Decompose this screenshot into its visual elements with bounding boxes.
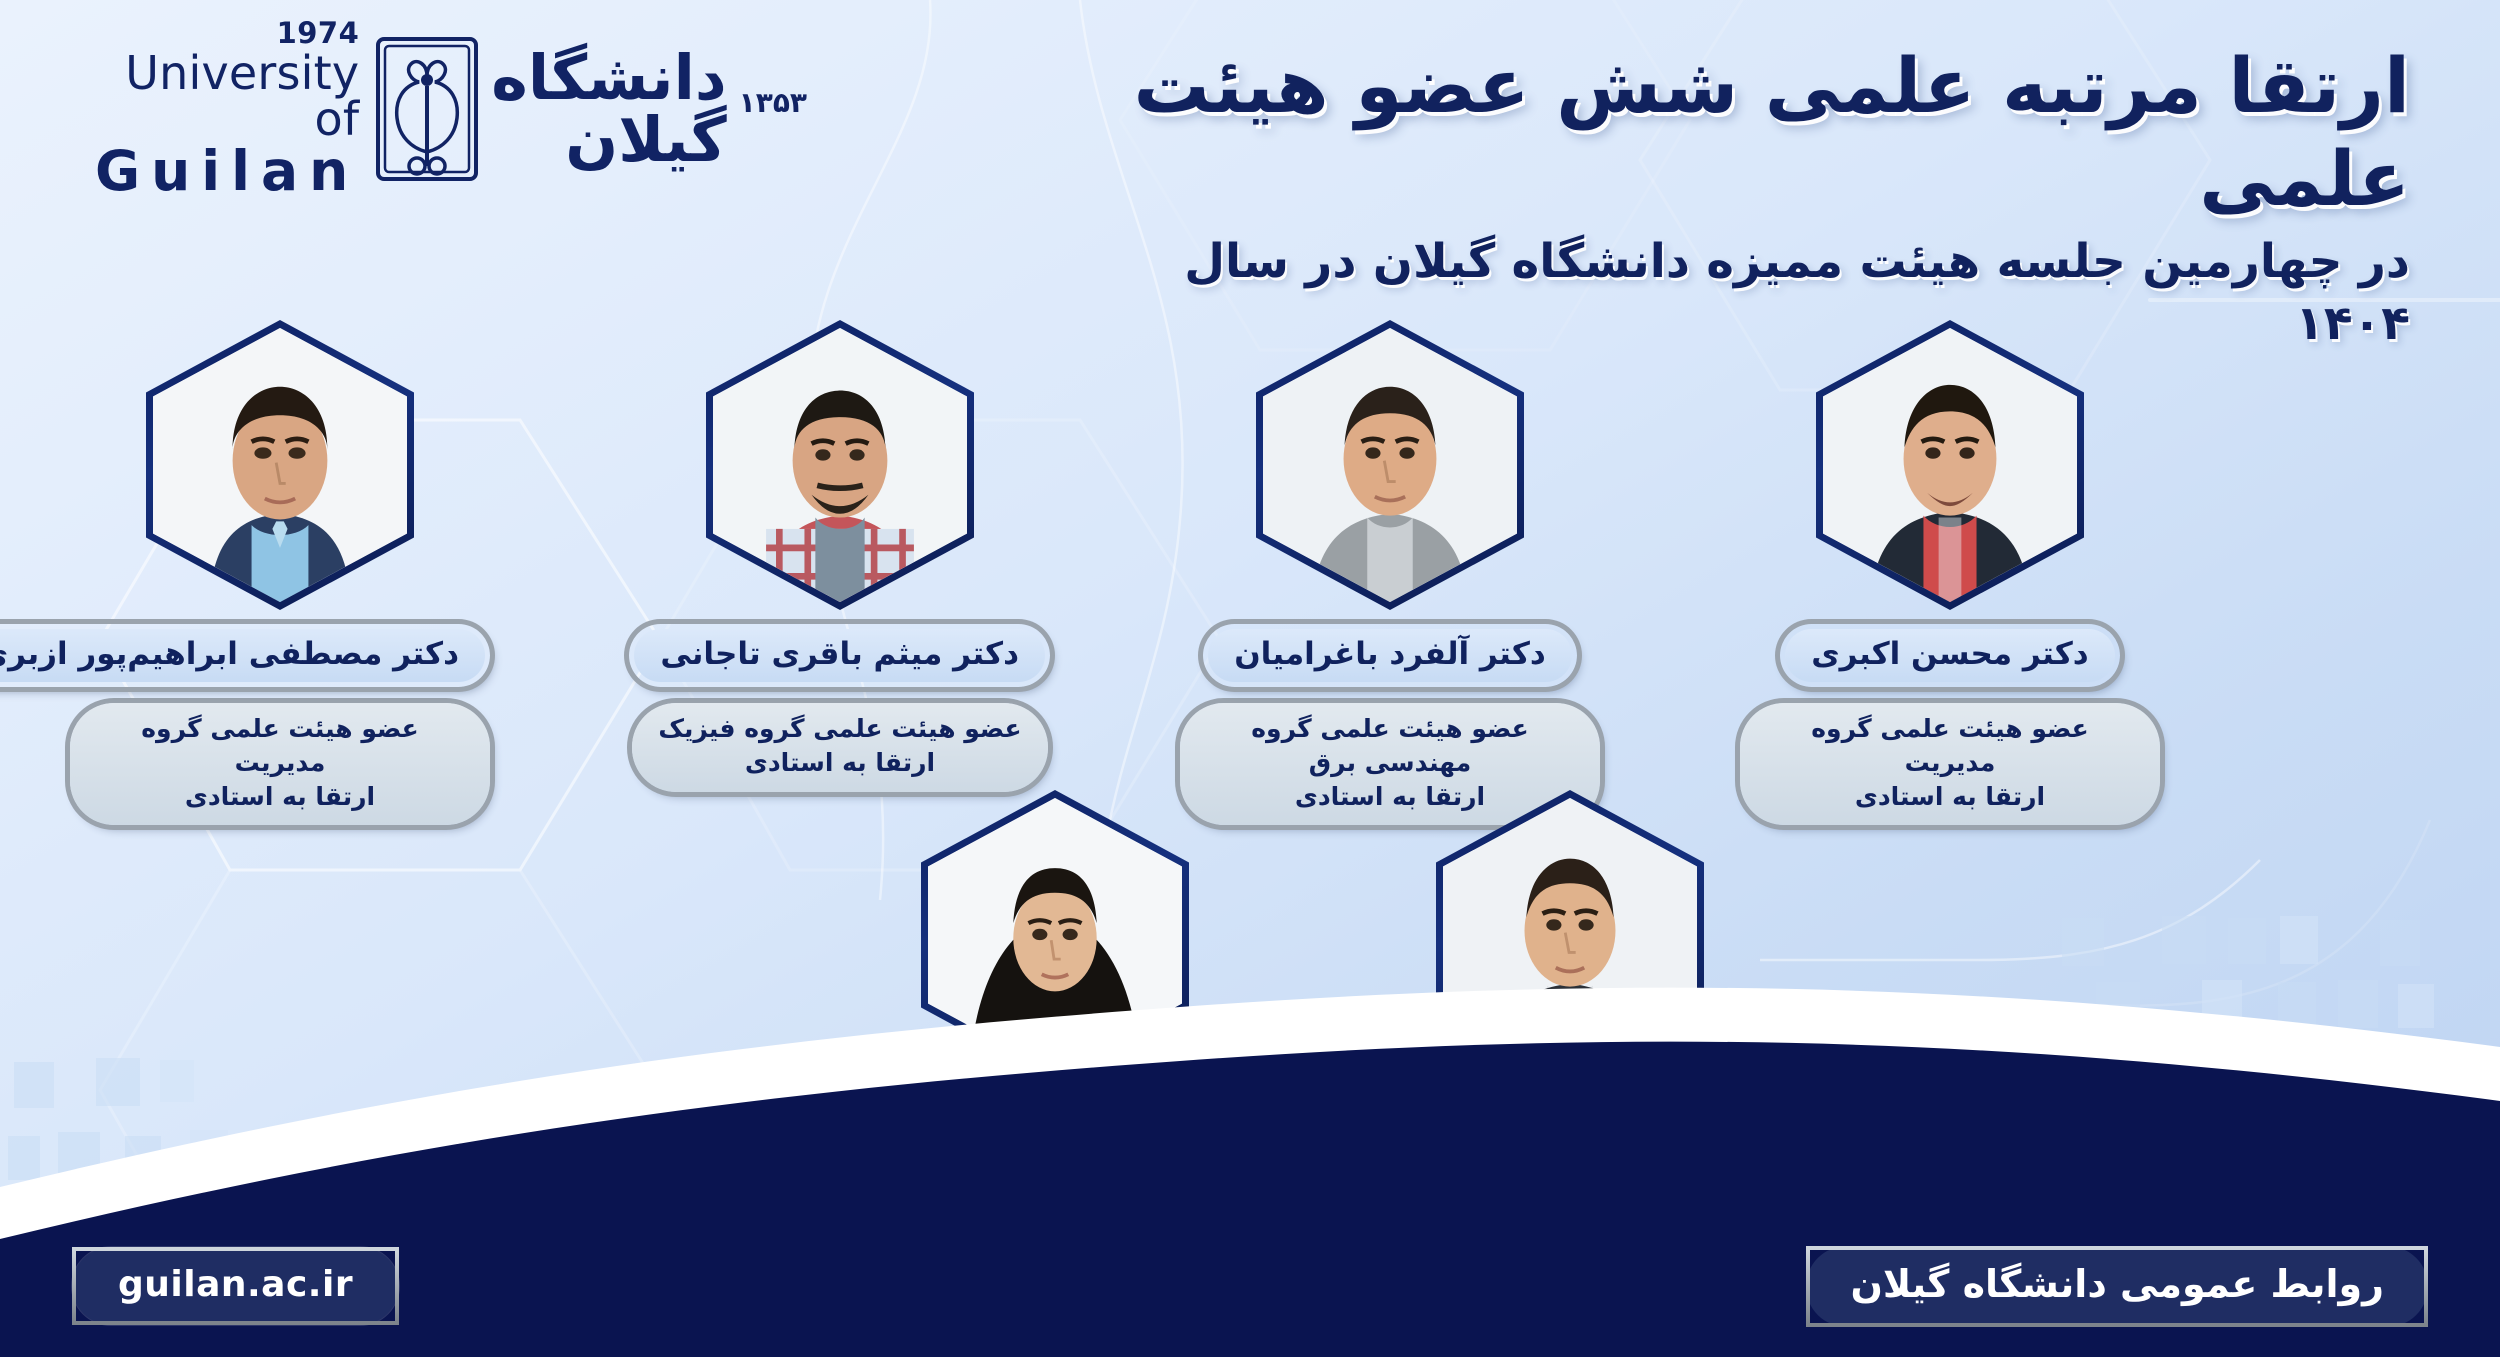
avatar (146, 320, 414, 610)
public-relations-pill: روابط عمومی دانشگاه گیلان (1806, 1246, 2428, 1327)
poster-canvas: 1974 University of Guilan ۱۳۵۳ دانشگاه گ… (0, 0, 2500, 1357)
person-role-line2: ارتقا به استادی (1855, 782, 2045, 811)
person-role: عضو هیئت علمی گروه مدیریت ارتقا به استاد… (1740, 703, 2160, 825)
avatar (1256, 320, 1524, 610)
person-card[interactable]: دکتر میثم باقری تاجانی عضو هیئت علمی گرو… (630, 320, 1050, 792)
avatar (706, 320, 974, 610)
person-role-line1: عضو هیئت علمی گروه مدیریت (1811, 714, 2088, 777)
person-role-line1: عضو هیئت علمی گروه مدیریت (141, 714, 418, 777)
person-role-line1: عضو هیئت علمی گروه فیزیک (658, 714, 1021, 743)
person-card[interactable]: دکتر محسن اکبری عضو هیئت علمی گروه مدیری… (1740, 320, 2160, 825)
person-role-line2: ارتقا به استادی (185, 782, 375, 811)
avatar (1816, 320, 2084, 610)
person-name: دکتر محسن اکبری (1780, 624, 2119, 687)
person-role: عضو هیئت علمی گروه فیزیک ارتقا به استادی (632, 703, 1047, 792)
person-name: دکتر آلفرد باغرامیان (1203, 624, 1577, 687)
person-name: دکتر میثم باقری تاجانی (629, 624, 1050, 687)
person-card[interactable]: دکتر مصطفی ابراهیم‌پور ازبری عضو هیئت عل… (70, 320, 490, 825)
website-pill[interactable]: guilan.ac.ir (72, 1247, 399, 1325)
person-role-line1: عضو هیئت علمی گروه مهندسی برق (1251, 714, 1528, 777)
person-card[interactable]: دکتر آلفرد باغرامیان عضو هیئت علمی گروه … (1180, 320, 1600, 825)
person-name: دکتر مصطفی ابراهیم‌پور ازبری (0, 624, 490, 687)
person-role: عضو هیئت علمی گروه مدیریت ارتقا به استاد… (70, 703, 490, 825)
person-role-line2: ارتقا به استادی (745, 748, 935, 777)
